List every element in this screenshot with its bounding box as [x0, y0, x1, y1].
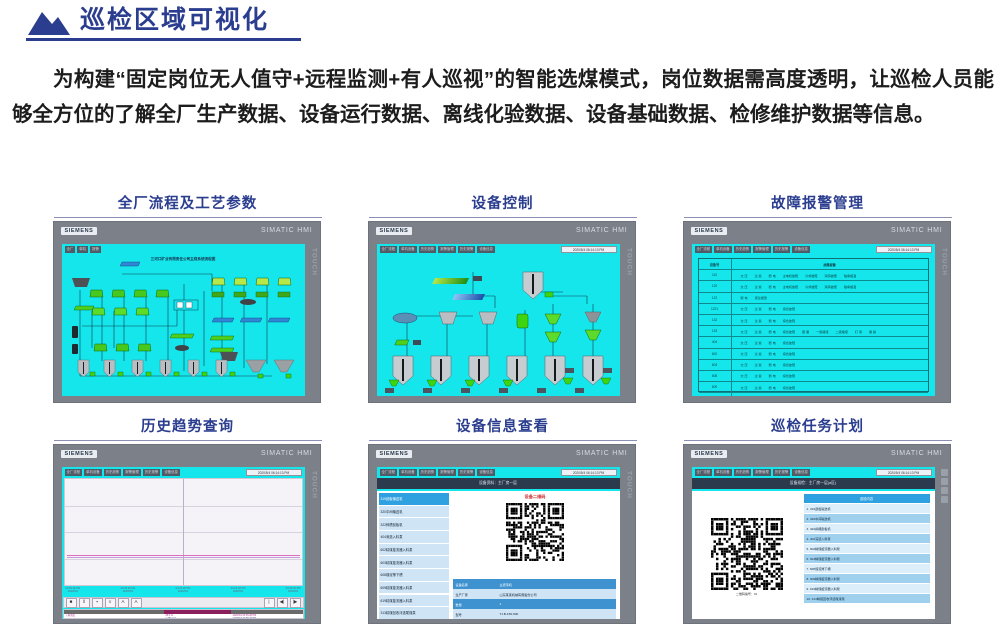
next-icon[interactable]: |▶ [290, 598, 301, 608]
alarm-tag: 润滑故障 [825, 284, 837, 289]
inspection-item[interactable]: 3. 322斜槽刮板机 [804, 524, 930, 533]
detail-value: 主皮带机 [497, 582, 616, 587]
alarm-tag: 综合故障 [783, 329, 795, 334]
alarm-tag: 断 电 [741, 295, 748, 300]
device-list-item[interactable]: 603精煤旋流器入料泵 [379, 556, 449, 568]
qr-code-image [506, 503, 564, 561]
device-info-body: 319刮板输送机320中间输送机322斜槽刮板机404深选入料泵602精煤旋流器… [377, 491, 620, 619]
touch-side-label: TOUCH [311, 471, 318, 499]
simatic-hmi-label: SIMATIC HMI [261, 227, 312, 234]
alarm-tag: 液位报警 [755, 295, 767, 300]
qr-code-title: 设备二维码 [451, 494, 620, 500]
device-list-item[interactable]: 609精煤旋流器入料泵 [379, 582, 449, 594]
nav-button-history-alarm[interactable]: 历史报警 [458, 469, 476, 476]
nav-button-equipment[interactable]: 单机设备 [84, 469, 102, 476]
inspection-item[interactable]: 10. 313精煤回收浮选尾煤泵 [804, 594, 930, 603]
hmi-panel-trend-query[interactable]: SIEMENS SIMATIC HMI TOUCH 全厂流程 单机设备 历史趋势… [53, 444, 321, 624]
rail-dot [941, 478, 948, 485]
alarm-tag: 轴承超温 [844, 284, 856, 289]
column-header-device-id: 设备号 [699, 259, 732, 269]
device-list-item[interactable]: 322斜槽刮板机 [379, 518, 449, 530]
hmi-titlebar: SIEMENS SIMATIC HMI [684, 445, 950, 462]
nav-button-0[interactable]: 全厂 [65, 246, 76, 253]
device-list-item[interactable]: 404深选入料泵 [379, 531, 449, 543]
siemens-logo: SIEMENS [61, 450, 98, 458]
device-list-item[interactable]: 320中间输送机 [379, 506, 449, 518]
cell-device-id: 133 [699, 326, 732, 336]
cell-device-id: 404 [699, 337, 732, 347]
qr-code-caption: 二维码编号：01 [736, 592, 757, 596]
alarm-tag: 欠 压 [741, 306, 748, 311]
caption-underline [369, 440, 637, 441]
alarm-tag: 断 电 [769, 318, 776, 323]
equipment-control-diagram [377, 256, 620, 396]
hmi-panel-equipment-control[interactable]: SIEMENS SIMATIC HMI TOUCH 全厂流程 单机设备 历史趋势… [368, 221, 636, 403]
cell-device-id: 619 [699, 393, 732, 396]
touch-side-label: TOUCH [626, 471, 633, 499]
alarm-tag: 断 电 [769, 351, 776, 356]
nav-button-plant-flow[interactable]: 全厂流程 [380, 246, 398, 253]
nav-button-history-alarm[interactable]: 历史报警 [458, 246, 476, 253]
trend-chart-plot[interactable] [64, 478, 303, 586]
alarm-tag: 过 载 [755, 273, 762, 278]
pause-icon[interactable]: ‖ [79, 598, 90, 608]
panel-caption: 设备控制 [368, 192, 638, 213]
detail-key: 设备名称 [453, 582, 497, 587]
alarm-tag: 断 电 [769, 373, 776, 378]
simatic-hmi-label: SIMATIC HMI [576, 450, 627, 457]
panel-cell-inspection-plan: 巡检任务计划 SIEMENS SIMATIC HMI 全厂流程 单机设备 [683, 415, 953, 624]
alarm-tag: 过 载 [755, 351, 762, 356]
device-location-subbar: 设备资料：主厂房一层 [377, 478, 620, 489]
alarm-tag: 过 载 [755, 284, 762, 289]
nav-button-alarm[interactable]: 报警管理 [753, 469, 771, 476]
nav-button-trend[interactable]: 历史趋势 [734, 469, 752, 476]
nav-button-history-alarm[interactable]: 历史报警 [773, 246, 791, 253]
alarm-tag: 断 电 [769, 362, 776, 367]
table-row[interactable]: 1221欠 压过 载断 电综合故障 [699, 304, 928, 315]
nav-button-device-info[interactable]: 设备信息 [477, 246, 495, 253]
simatic-hmi-label: SIMATIC HMI [261, 450, 312, 457]
detail-key: 型号 [453, 612, 497, 617]
detail-row: 数量1 [453, 599, 616, 609]
alarm-tag: 过 载 [755, 318, 762, 323]
alarm-tag: 欠 压 [741, 284, 748, 289]
nav-button-device-info[interactable]: 设备信息 [792, 469, 810, 476]
inspection-item[interactable]: 1. 319刮板输送机 [804, 504, 930, 513]
clock-display: 2020/5/4 06:14:13 PM [876, 469, 932, 476]
trend-series-line-2 [67, 557, 300, 558]
siemens-logo: SIEMENS [376, 227, 413, 235]
alarm-tag: 欠 压 [741, 340, 748, 345]
table-row[interactable]: 133欠 压过 载断 电综合故障跑 偏一级堵煤二级堵煤打 滑撕 裂 [699, 326, 928, 337]
alarm-tag: 打 滑 [855, 329, 862, 334]
hmi-panel-alarm-management[interactable]: SIEMENS SIMATIC HMI TOUCH 全厂流程 单机设备 历史趋势… [683, 221, 951, 403]
detail-row: 生产厂家山东某某机械有限股份公司 [453, 589, 616, 599]
nav-button-device-info[interactable]: 设备信息 [792, 246, 810, 253]
nav-button-history-alarm[interactable]: 历史报警 [773, 469, 791, 476]
alarm-tag: 主电机故障 [783, 284, 798, 289]
caption-underline [54, 217, 322, 218]
table-row[interactable]: 110欠 压过 载断 电主电机故障冷却故障润滑故障轴承超温 [699, 270, 928, 281]
x-axis-tick: 03:35:28 PM2020/5/4 [286, 587, 301, 596]
inspection-item[interactable]: 4. 404深选入料泵 [804, 534, 930, 543]
alarm-tag: 欠 压 [741, 373, 748, 378]
caption-underline [684, 217, 952, 218]
legend-row[interactable]: 介质密度计1.380 kg/L2020/5/4 03:35:28 PM [64, 617, 303, 619]
trend-legend-table[interactable]: 入料浓度28.0 %2020/5/4 03:35:28 PM介质密度计1.380… [63, 609, 304, 619]
table-header-row: 设备号 故障报警 [699, 259, 928, 270]
cell-device-id: 110 [699, 270, 732, 280]
stop-icon[interactable]: ■ [66, 598, 77, 608]
nav-button-alarm[interactable]: 报警管理 [438, 246, 456, 253]
intro-paragraph: 为构建“固定岗位无人值守+远程监测+有人巡视”的智能选煤模式，岗位数据需高度透明… [12, 62, 994, 133]
detail-value: TJ.B-150-500 [497, 612, 616, 616]
panel-caption: 历史趋势查询 [53, 415, 323, 436]
cell-alarm-tags: 欠 压过 载断 电综合故障 [732, 340, 928, 345]
inspection-item[interactable]: 8. 609精煤旋流器入料泵 [804, 574, 930, 583]
panel-cell-trend-query: 历史趋势查询 SIEMENS SIMATIC HMI TOUCH 全厂流程 单机… [53, 415, 323, 624]
nav-button-alarm[interactable]: 报警管理 [438, 469, 456, 476]
mountain-icon [28, 9, 70, 35]
nav-button-trend[interactable]: 历史趋势 [419, 246, 437, 253]
x-axis-tick: 03:15:28 PM2020/5/4 [176, 587, 191, 596]
rail-dot [941, 487, 948, 494]
nav-button-device-info[interactable]: 设备信息 [477, 469, 495, 476]
nav-button-alarm[interactable]: 报警管理 [753, 246, 771, 253]
legend-series-value: 1.380 kg/L [163, 617, 230, 619]
nav-button-equipment[interactable]: 单机设备 [399, 469, 417, 476]
process-flow-diagram [62, 256, 305, 396]
panel-cell-alarm-management: 故障报警管理 SIEMENS SIMATIC HMI TOUCH 全厂流程 单机… [683, 192, 953, 403]
table-row[interactable]: 122断 电液位报警 [699, 293, 928, 304]
hmi-panel-plant-flow[interactable]: SIEMENS SIMATIC HMI TOUCH 全厂 单机 报警 三河口矿业… [53, 221, 321, 403]
alarm-tag: 欠 压 [741, 273, 748, 278]
hmi-titlebar: SIEMENS SIMATIC HMI [369, 445, 635, 462]
hmi-titlebar: SIEMENS SIMATIC HMI [54, 445, 320, 462]
alarm-tag: 断 电 [769, 306, 776, 311]
page-title: 巡检区域可视化 [80, 8, 269, 35]
panel-row-1: 全厂流程及工艺参数 SIEMENS SIMATIC HMI TOUCH 全厂 单… [0, 192, 1005, 403]
qr-code-image [711, 518, 783, 590]
inspection-items-container: 1. 319刮板输送机2. 320中间输送机3. 322斜槽刮板机4. 404深… [804, 504, 930, 603]
alarm-tag: 润滑故障 [825, 273, 837, 278]
inspection-item[interactable]: 6. 603精煤旋流器入料泵 [804, 554, 930, 563]
alarm-tag: 综合故障 [783, 362, 795, 367]
detail-key: 生产厂家 [453, 592, 497, 597]
alarm-tag: 过 载 [755, 306, 762, 311]
nav-button-plant-flow[interactable]: 全厂流程 [65, 469, 83, 476]
cell-device-id: 122 [699, 293, 732, 303]
chart-toolbar[interactable]: ■ ‖ ▪ ≡ A A | ◀| |▶ [63, 597, 304, 608]
alarm-tag: 过 载 [755, 385, 762, 390]
alarm-tag: 过 载 [755, 329, 762, 334]
hmi-screen[interactable]: 全厂流程 单机设备 历史趋势 报警管理 历史报警 设备信息 2020/5/4 0… [377, 467, 620, 619]
cell-alarm-tags: 欠 压过 载断 电综合故障 [732, 306, 928, 311]
panel-caption: 设备信息查看 [368, 415, 638, 436]
siemens-logo: SIEMENS [691, 450, 728, 458]
detail-key: 数量 [453, 602, 497, 607]
legend-series-time: 2020/5/4 03:35:28 PM [231, 617, 303, 619]
device-list-item[interactable]: 602精煤旋流器入料泵 [379, 544, 449, 556]
alarm-tag: 撕 裂 [869, 329, 876, 334]
inspection-item[interactable]: 2. 320中间输送机 [804, 514, 930, 523]
alarm-tag: 欠 压 [741, 351, 748, 356]
legend-series-name: 介质密度计 [64, 617, 164, 619]
cell-device-id: 603 [699, 360, 732, 370]
alarm-tag: 断 电 [769, 340, 776, 345]
nav-button-trend[interactable]: 历史趋势 [104, 469, 122, 476]
clock-display: 2020/5/4 06:14:13 PM [561, 246, 617, 253]
legend-rows-container: 入料浓度28.0 %2020/5/4 03:35:28 PM介质密度计1.380… [64, 614, 303, 619]
alarm-tag: 主电机故障 [783, 273, 798, 278]
inspection-list-pane[interactable]: 巡检内容 1. 319刮板输送机2. 320中间输送机3. 322斜槽刮板机4.… [802, 491, 935, 619]
clock-display: 2020/5/4 06:14:13 PM [246, 469, 302, 476]
siemens-logo: SIEMENS [61, 227, 98, 235]
nav-button-trend[interactable]: 历史趋势 [419, 469, 437, 476]
cell-alarm-tags: 欠 压过 载断 电主电机故障冷却故障润滑故障轴承超温 [732, 284, 928, 289]
nav-button-plant-flow[interactable]: 全厂流程 [695, 246, 713, 253]
inspection-item[interactable]: 5. 602精煤旋流器入料泵 [804, 544, 930, 553]
cell-alarm-tags: 欠 压过 载断 电综合故障 [732, 351, 928, 356]
cell-alarm-tags: 欠 压过 载断 电综合故障 [732, 318, 928, 323]
hmi-titlebar: SIEMENS SIMATIC HMI [684, 222, 950, 239]
hmi-screen[interactable]: 全厂 单机 报警 三河口矿业有限责任公司主煤系统流程图 [62, 244, 305, 396]
panel-cell-device-info: 设备信息查看 SIEMENS SIMATIC HMI TOUCH 全厂流程 单机… [368, 415, 638, 624]
panel-row-2: 历史趋势查询 SIEMENS SIMATIC HMI TOUCH 全厂流程 单机… [0, 415, 1005, 624]
inspection-location-subbar: 设备巡检：主厂房一层(a区) [692, 478, 935, 489]
cell-device-id: 602 [699, 349, 732, 359]
qr-pane: 二维码编号：01 [692, 491, 802, 619]
nav-button-equipment[interactable]: 单机设备 [714, 246, 732, 253]
cursor-icon[interactable]: | [264, 598, 275, 608]
clock-display: 2020/5/4 06:14:13 PM [876, 246, 932, 253]
hmi-screen[interactable]: 全厂流程 单机设备 历史趋势 报警管理 历史报警 设备信息 2020/5/4 0… [62, 467, 305, 619]
caption-underline [54, 440, 322, 441]
record-icon[interactable]: ▪ [92, 598, 103, 608]
touch-rail [940, 469, 949, 539]
alarm-tag: 欠 压 [741, 385, 748, 390]
alarm-tag: 欠 压 [741, 329, 748, 334]
cell-device-id: 608 [699, 371, 732, 381]
ruler-icon[interactable]: ≡ [105, 598, 116, 608]
alarm-tag: 过 载 [755, 373, 762, 378]
panel-caption: 故障报警管理 [683, 192, 953, 213]
zoom-out-icon[interactable]: A [131, 598, 142, 608]
table-row[interactable]: 603欠 压过 载断 电综合故障 [699, 360, 928, 371]
nav-button-alarm[interactable]: 报警管理 [123, 469, 141, 476]
cell-alarm-tags: 欠 压过 载断 电综合故障跑 偏一级堵煤二级堵煤打 滑撕 裂 [732, 329, 928, 334]
panel-grid: 全厂流程及工艺参数 SIEMENS SIMATIC HMI TOUCH 全厂 单… [0, 192, 1005, 636]
x-axis-tick: 03:05:28 PM2020/5/4 [121, 587, 136, 596]
table-row[interactable]: 619欠 压过 载断 电综合故障 [699, 393, 928, 396]
caption-underline [369, 217, 637, 218]
table-row[interactable]: 132欠 压过 载断 电综合故障 [699, 315, 928, 326]
clock-display: 2020/5/4 06:14:13 PM [561, 469, 617, 476]
simatic-hmi-label: SIMATIC HMI [576, 227, 627, 234]
alarm-tag: 断 电 [769, 329, 776, 334]
zoom-in-icon[interactable]: A [118, 598, 129, 608]
alarm-tag: 综合故障 [783, 351, 795, 356]
panel-caption: 巡检任务计划 [683, 415, 953, 436]
cell-device-id: 1221 [699, 304, 732, 314]
panel-cell-equipment-control: 设备控制 SIEMENS SIMATIC HMI TOUCH 全厂流程 单机设备… [368, 192, 638, 403]
device-list-item[interactable]: 319刮板输送机 [379, 493, 449, 505]
nav-button-1[interactable]: 单机 [77, 246, 88, 253]
inspection-plan-body: 二维码编号：01 巡检内容 1. 319刮板输送机2. 320中间输送机3. 3… [692, 491, 935, 619]
alarm-tag: 欠 压 [741, 362, 748, 367]
nav-button-trend[interactable]: 历史趋势 [734, 246, 752, 253]
alarm-tag: 断 电 [769, 284, 776, 289]
cell-alarm-tags: 断 电液位报警 [732, 295, 928, 300]
hmi-panel-device-info[interactable]: SIEMENS SIMATIC HMI TOUCH 全厂流程 单机设备 历史趋势… [368, 444, 636, 624]
alarm-tag: 跑 偏 [802, 329, 809, 334]
title-underline [26, 38, 301, 41]
nav-button-history-alarm[interactable]: 历史报警 [143, 469, 161, 476]
chart-x-axis-ticks: 02:55:28 PM2020/5/403:05:28 PM2020/5/403… [62, 587, 305, 596]
alarm-tag: 过 载 [755, 340, 762, 345]
alarm-tag: 综合故障 [783, 373, 795, 378]
alarm-tag: 二级堵煤 [836, 329, 848, 334]
table-row[interactable]: 120欠 压过 载断 电主电机故障冷却故障润滑故障轴承超温 [699, 281, 928, 292]
alarm-table[interactable]: 设备号 故障报警 110欠 压过 载断 电主电机故障冷却故障润滑故障轴承超温12… [698, 258, 929, 392]
prev-icon[interactable]: ◀| [277, 598, 288, 608]
alarm-tag: 冷却故障 [805, 284, 817, 289]
cell-alarm-tags: 欠 压过 载断 电主电机故障冷却故障润滑故障轴承超温 [732, 273, 928, 278]
panel-caption: 全厂流程及工艺参数 [53, 192, 323, 213]
alarm-tag: 一级堵煤 [816, 329, 828, 334]
cell-alarm-tags: 欠 压过 载断 电综合故障 [732, 373, 928, 378]
touch-side-label: TOUCH [311, 248, 318, 276]
detail-value: 1 [497, 602, 616, 606]
panel-cell-plant-flow: 全厂流程及工艺参数 SIEMENS SIMATIC HMI TOUCH 全厂 单… [53, 192, 323, 403]
cell-device-id: 609 [699, 382, 732, 392]
cell-alarm-tags: 欠 压过 载断 电综合故障 [732, 362, 928, 367]
detail-row: 型号TJ.B-150-500 [453, 609, 616, 619]
table-row[interactable]: 608欠 压过 载断 电综合故障 [699, 371, 928, 382]
page-header: 巡检区域可视化 [28, 8, 269, 35]
siemens-logo: SIEMENS [691, 227, 728, 235]
rail-dot [941, 469, 948, 476]
alarm-tag: 冷却故障 [805, 273, 817, 278]
alarm-tag: 综合故障 [783, 318, 795, 323]
hmi-screen[interactable]: 全厂流程 单机设备 历史趋势 报警管理 历史报警 设备信息 2020/5/4 0… [692, 467, 935, 619]
detail-row: 设备名称主皮带机 [453, 579, 616, 589]
device-list[interactable]: 319刮板输送机320中间输送机322斜槽刮板机404深选入料泵602精煤旋流器… [377, 491, 451, 619]
alarm-rows-container: 110欠 压过 载断 电主电机故障冷却故障润滑故障轴承超温120欠 压过 载断 … [699, 270, 928, 396]
alarm-tag: 断 电 [769, 273, 776, 278]
inspection-list-header: 巡检内容 [804, 494, 930, 503]
simatic-hmi-label: SIMATIC HMI [891, 227, 942, 234]
alarm-tag: 欠 压 [741, 318, 748, 323]
alarm-tag: 过 载 [755, 362, 762, 367]
alarm-tag: 综合故障 [783, 306, 795, 311]
alarm-tag: 综合故障 [783, 385, 795, 390]
siemens-logo: SIEMENS [376, 450, 413, 458]
screen-navbar[interactable]: 全厂 单机 报警 [62, 244, 305, 253]
device-list-item[interactable]: 608煤泥筛下槽 [379, 569, 449, 581]
alarm-tag: 轴承超温 [844, 273, 856, 278]
hmi-panel-inspection-plan[interactable]: SIEMENS SIMATIC HMI 全厂流程 单机设备 历史趋势 报警管理 [683, 444, 951, 624]
caption-underline [684, 440, 952, 441]
nav-button-plant-flow[interactable]: 全厂流程 [380, 469, 398, 476]
x-axis-tick: 02:55:28 PM2020/5/4 [66, 587, 81, 596]
hmi-screen[interactable]: 全厂流程 单机设备 历史趋势 报警管理 历史报警 设备信息 2020/5/4 0… [377, 244, 620, 396]
device-detail-table: 设备名称主皮带机生产厂家山东某某机械有限股份公司数量1型号TJ.B-150-50… [453, 579, 616, 619]
alarm-tag: 综合故障 [783, 340, 795, 345]
nav-button-2[interactable]: 报警 [90, 246, 101, 253]
touch-side-label: TOUCH [626, 248, 633, 276]
hmi-titlebar: SIEMENS SIMATIC HMI [54, 222, 320, 239]
cell-device-id: 132 [699, 315, 732, 325]
table-row[interactable]: 602欠 压过 载断 电综合故障 [699, 349, 928, 360]
detail-value: 山东某某机械有限股份公司 [497, 592, 616, 597]
cell-alarm-tags: 欠 压过 载断 电综合故障 [732, 385, 928, 390]
inspection-item[interactable]: 7. 608煤泥筛下槽 [804, 564, 930, 573]
x-axis-tick: 03:25:28 PM2020/5/4 [231, 587, 246, 596]
cell-device-id: 120 [699, 281, 732, 291]
nav-button-equipment[interactable]: 单机设备 [714, 469, 732, 476]
hmi-titlebar: SIEMENS SIMATIC HMI [369, 222, 635, 239]
rail-dot [941, 496, 948, 503]
device-list-item[interactable]: 619精煤旋流器入料泵 [379, 595, 449, 607]
touch-side-label: TOUCH [941, 248, 948, 276]
device-list-item[interactable]: 313精煤回收浮选尾煤泵 [379, 607, 449, 619]
nav-button-plant-flow[interactable]: 全厂流程 [695, 469, 713, 476]
inspection-item[interactable]: 9. 619精煤旋流器入料泵 [804, 584, 930, 593]
nav-button-equipment[interactable]: 单机设备 [399, 246, 417, 253]
table-row[interactable]: 609欠 压过 载断 电综合故障 [699, 382, 928, 393]
nav-button-device-info[interactable]: 设备信息 [162, 469, 180, 476]
table-row[interactable]: 404欠 压过 载断 电综合故障 [699, 337, 928, 348]
alarm-tag: 断 电 [769, 385, 776, 390]
hmi-screen[interactable]: 全厂流程 单机设备 历史趋势 报警管理 历史报警 设备信息 2020/5/4 0… [692, 244, 935, 396]
simatic-hmi-label: SIMATIC HMI [891, 450, 942, 457]
column-header-alarm: 故障报警 [732, 262, 928, 267]
device-detail-pane: 设备二维码 设备名称主皮带机生产厂家山东某某机械有限股份公司数量1型号TJ.B-… [451, 491, 620, 619]
